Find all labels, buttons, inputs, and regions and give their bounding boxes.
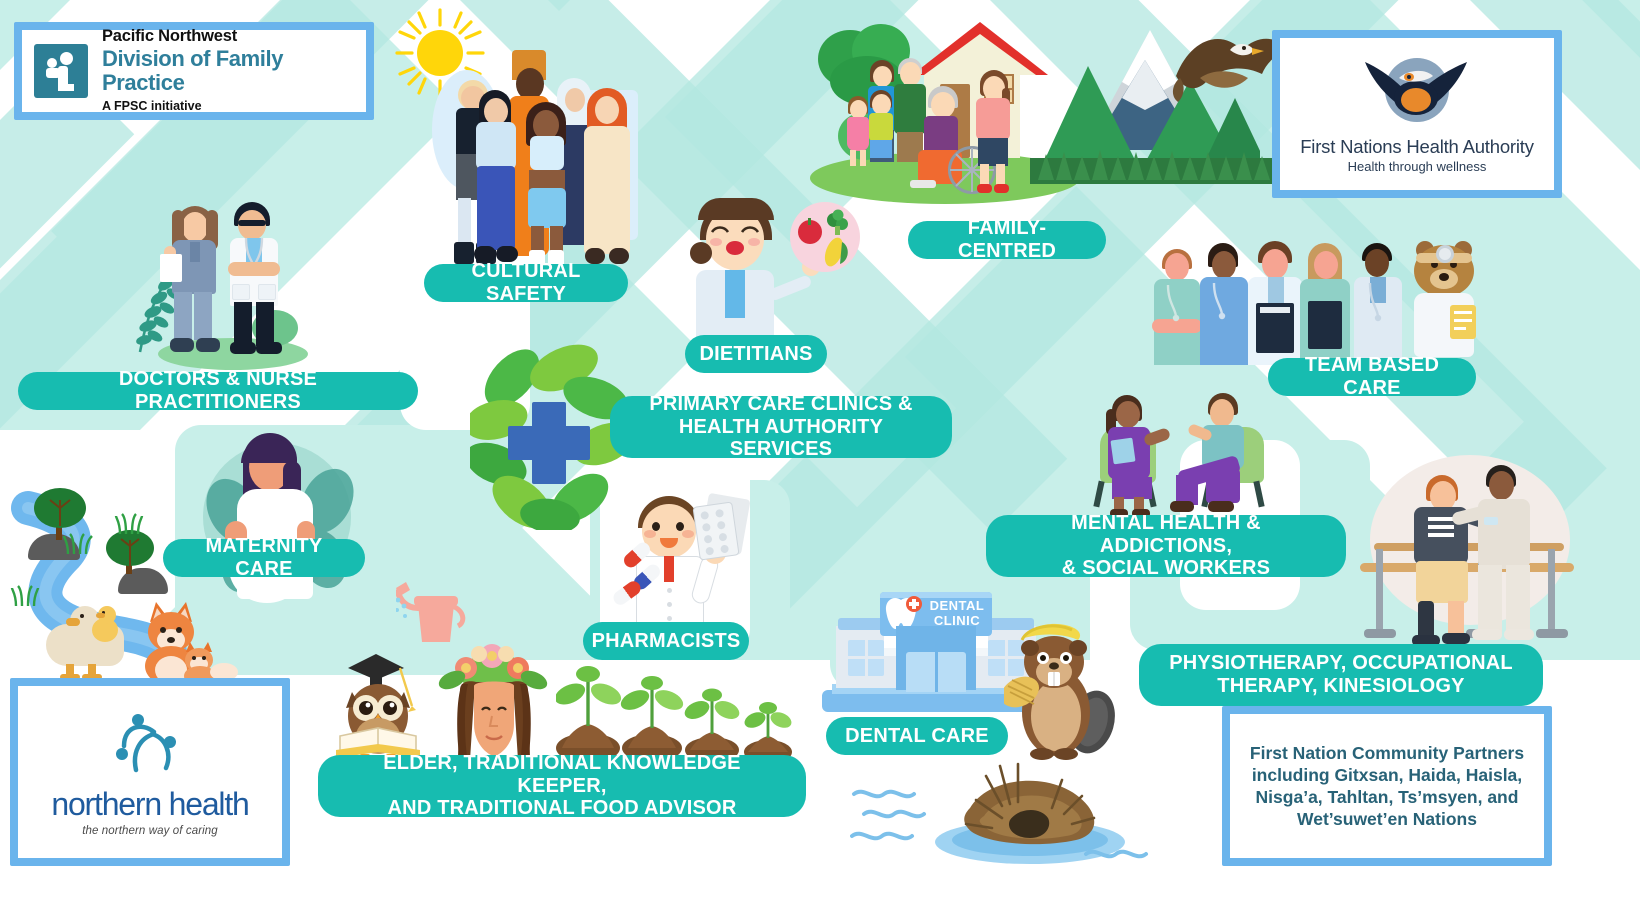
label-doctors-nurse-practitioners: DOCTORS & NURSE PRACTITIONERS [18, 372, 418, 410]
fnha-line1: First Nations Health Authority [1292, 136, 1542, 158]
label-team-based-care: TEAM BASED CARE [1268, 358, 1476, 396]
beaver-lodge-illustration [850, 760, 1150, 870]
diverse-women-group-illustration [432, 30, 647, 290]
healthcare-team-illustration [1150, 235, 1480, 365]
label-pharmacists: PHARMACISTS [583, 622, 749, 660]
label-physiotherapy: PHYSIOTHERAPY, OCCUPATIONAL THERAPY, KIN… [1139, 644, 1543, 706]
family-practice-mark-icon [34, 44, 88, 98]
label-family-centred: FAMILY-CENTRED [908, 221, 1106, 259]
fnha-line2: Health through wellness [1292, 159, 1542, 174]
label-dietitians: DIETITIANS [685, 335, 827, 373]
pndfp-line2: Division of Family Practice [102, 47, 354, 95]
first-nations-health-authority-logo: First Nations Health Authority Health th… [1272, 30, 1562, 198]
pacific-northwest-division-of-family-practice-logo: Pacific Northwest Division of Family Pra… [14, 22, 374, 120]
partners-text: First Nation Community Partners includin… [1238, 742, 1536, 830]
duck-with-duckling-illustration [36, 598, 146, 680]
northern-health-figures-icon [108, 708, 192, 780]
fox-with-kit-illustration [138, 600, 238, 684]
dietitian-with-vegetables-illustration [680, 190, 860, 340]
beaver-illustration [1004, 620, 1124, 760]
northern-health-tagline: the northern way of caring [30, 825, 270, 837]
pndfp-line3: A FPSC initiative [102, 100, 354, 114]
label-elder-knowledge-keeper: ELDER, TRADITIONAL KNOWLEDGE KEEPER, AND… [318, 755, 806, 817]
label-primary-care-clinics: PRIMARY CARE CLINICS & HEALTH AUTHORITY … [610, 396, 952, 458]
teddy-bear-doctor-illustration [1406, 235, 1486, 365]
label-cultural-safety: CULTURAL SAFETY [424, 264, 628, 302]
fnha-eagle-mark-icon [1363, 54, 1471, 132]
physiotherapy-session-illustration [1360, 455, 1580, 660]
infographic-canvas: DENTAL CLINIC [0, 0, 1640, 924]
label-dental-care: DENTAL CARE [826, 717, 1008, 755]
pndfp-line1: Pacific Northwest [102, 28, 354, 46]
northern-health-logo: northern health the northern way of cari… [10, 678, 290, 866]
elder-woman-with-flowers-illustration [434, 640, 554, 770]
seedlings-in-soil-illustration [556, 660, 806, 765]
label-maternity-care: MATERNITY CARE [163, 539, 365, 577]
northern-health-wordmark: northern health [30, 786, 270, 823]
dental-sign-line1: DENTAL [930, 598, 985, 613]
doctor-and-nurse-illustration [130, 190, 340, 375]
label-mental-health-addictions: MENTAL HEALTH & ADDICTIONS, & SOCIAL WOR… [986, 515, 1346, 577]
first-nation-community-partners-box: First Nation Community Partners includin… [1222, 706, 1552, 866]
counselling-session-illustration [1090, 385, 1280, 520]
